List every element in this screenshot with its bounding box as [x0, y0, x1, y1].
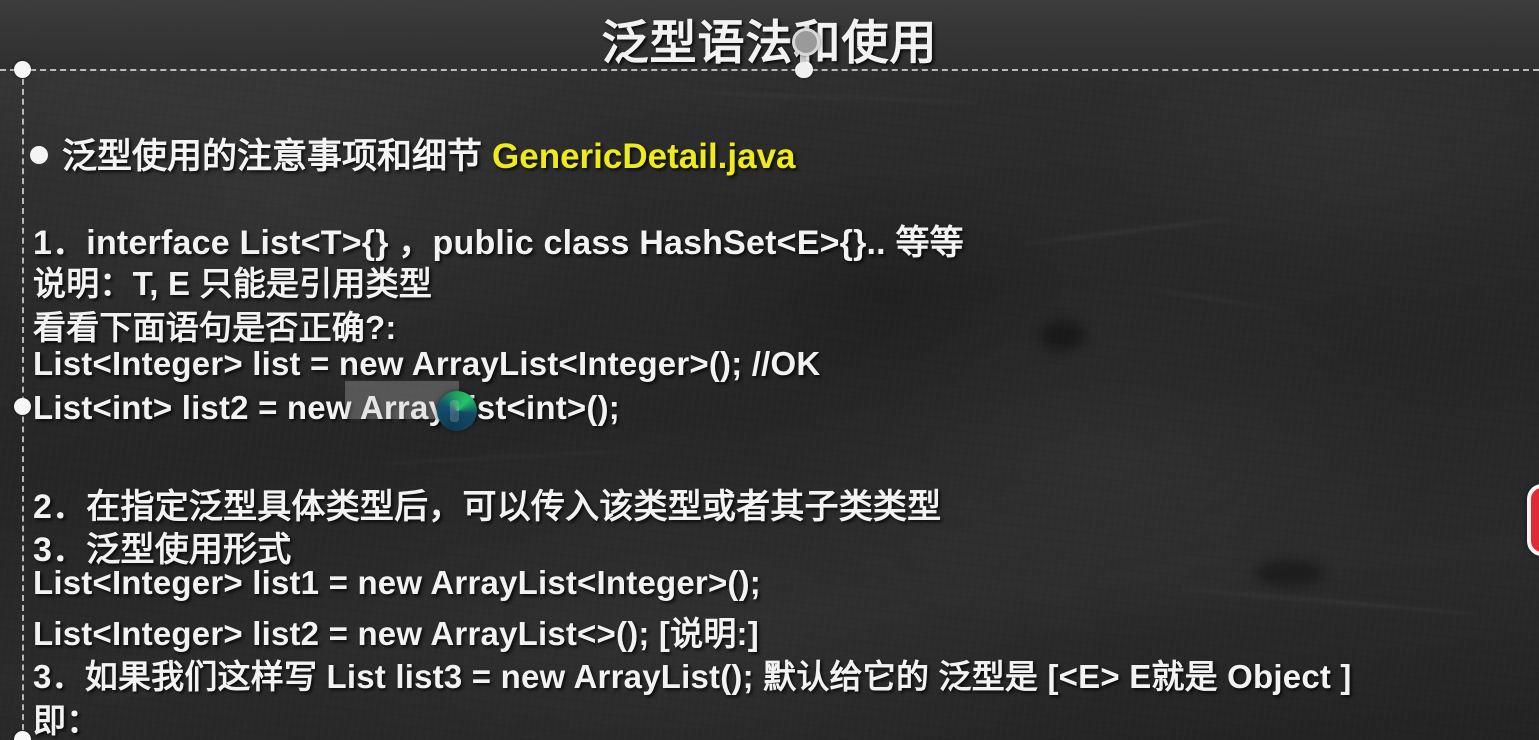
section-heading: 泛型使用的注意事项和细节GenericDetail.java: [30, 128, 796, 179]
slide-content: 泛型语法和使用 泛型使用的注意事项和细节GenericDetail.java 1…: [0, 0, 1539, 740]
slide-line-5: List<int> list2 = new ArrayList<int>();: [33, 389, 620, 427]
location-pin-icon[interactable]: [792, 28, 820, 56]
java-filename: GenericDetail.java: [492, 137, 796, 176]
slide-line-2: 说明：T, E 只能是引用类型: [33, 257, 432, 305]
bullet-dot-icon: [30, 146, 48, 164]
screenshot-root: 泛型语法和使用 泛型使用的注意事项和细节GenericDetail.java 1…: [0, 0, 1539, 740]
slide-title: 泛型语法和使用: [0, 4, 1539, 73]
slide-line-8: List<Integer> list1 = new ArrayList<Inte…: [33, 564, 761, 602]
slide-line-10: 3．如果我们这样写 List list3 = new ArrayList(); …: [33, 650, 1352, 698]
crop-frame-top-edge[interactable]: [0, 69, 1539, 71]
section-heading-text: 泛型使用的注意事项和细节: [62, 137, 482, 176]
slide-line-6: 2．在指定泛型具体类型后，可以传入该类型或者其子类类型: [33, 479, 941, 528]
crop-handle-top-left[interactable]: [14, 61, 31, 78]
pin-marker-tip: [795, 62, 811, 78]
slide-line-3: 看看下面语句是否正确?:: [33, 301, 397, 349]
slide-line-9: List<Integer> list2 = new ArrayList<>();…: [33, 607, 759, 655]
slide-line-4: List<Integer> list = new ArrayList<Integ…: [33, 345, 820, 383]
crop-handle-middle-left[interactable]: [14, 398, 31, 415]
round-cursor-puck-icon[interactable]: [437, 391, 477, 431]
slide-line-11: 即：: [33, 694, 99, 740]
edge-badge[interactable]: [1527, 484, 1539, 556]
